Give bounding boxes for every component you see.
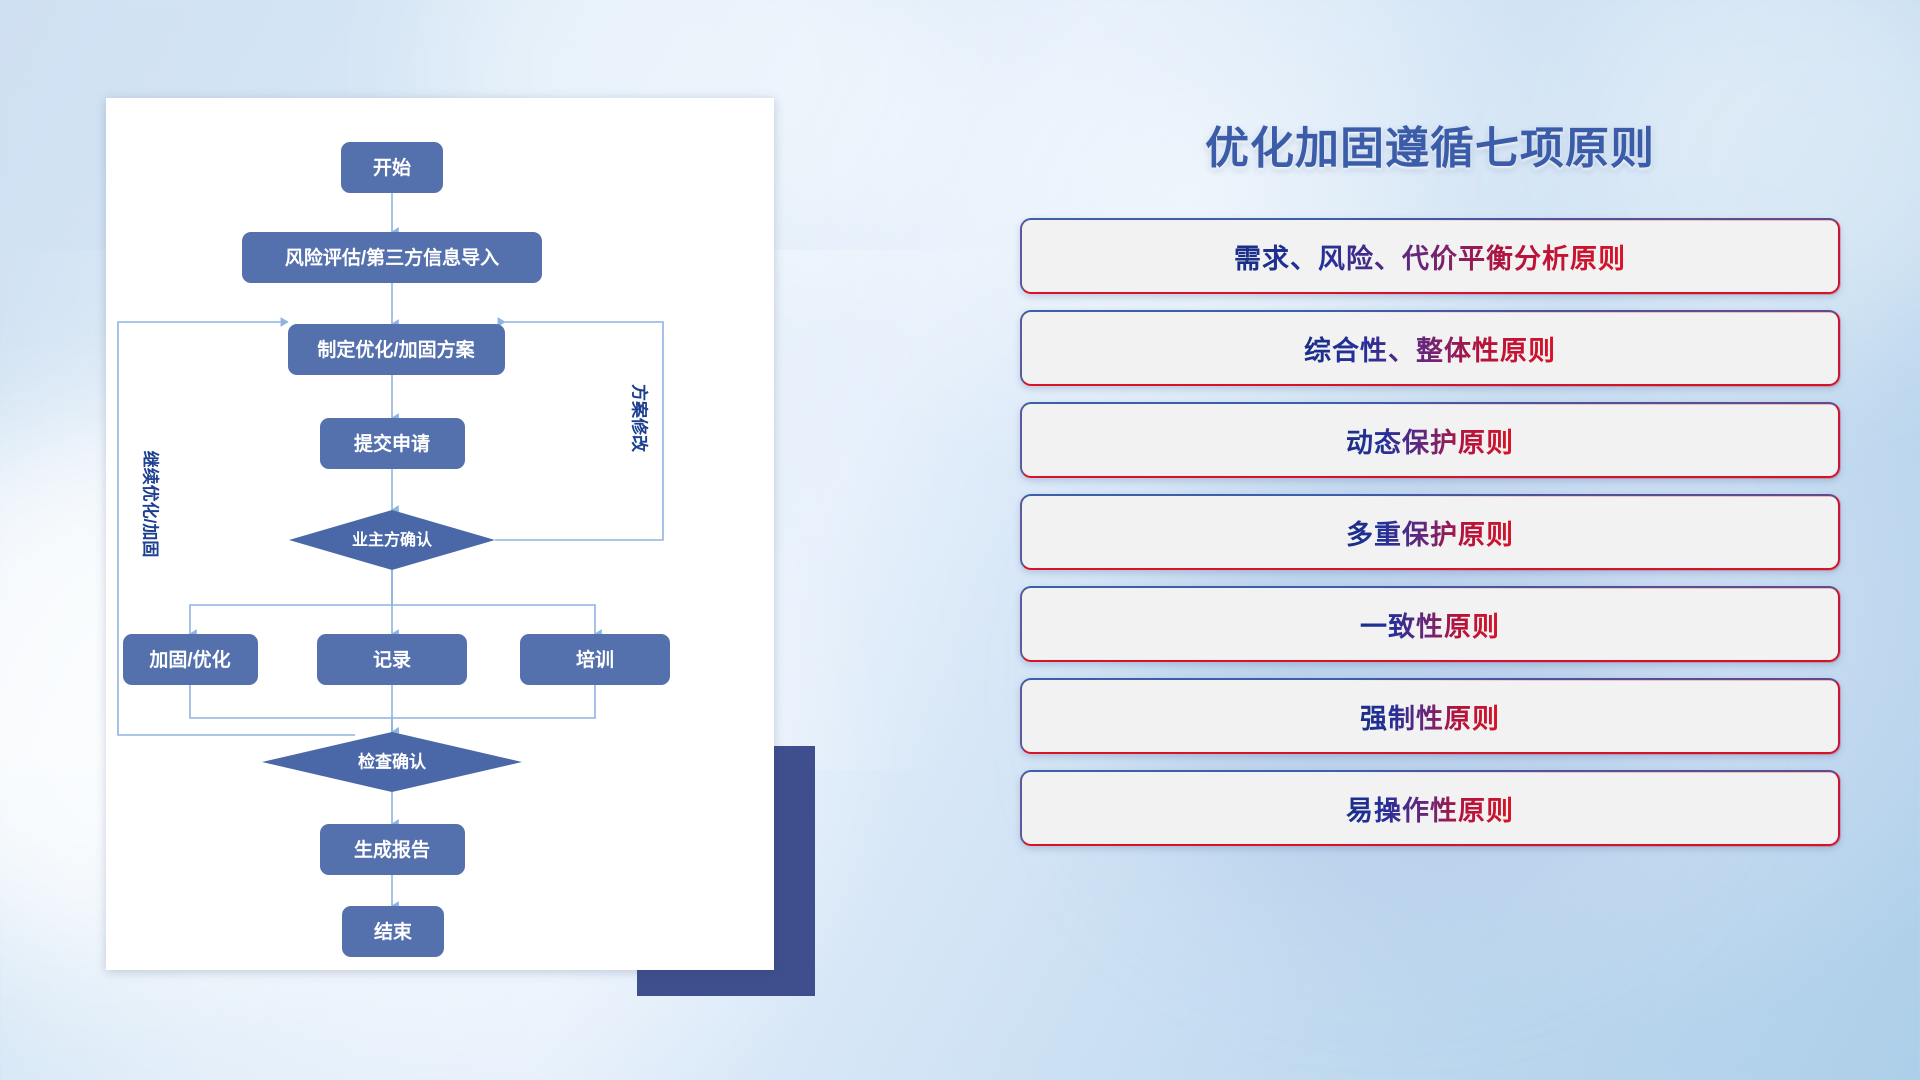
principle-card-4-label: 多重保护原则 bbox=[1346, 513, 1514, 552]
principle-card-1[interactable]: 需求、风险、代价平衡分析原则 bbox=[1020, 218, 1840, 294]
flow-edge-label-continue-optimize: 继续优化/加固 bbox=[141, 451, 161, 558]
flow-node-submit[interactable]: 提交申请 bbox=[320, 418, 465, 469]
principle-card-1-label: 需求、风险、代价平衡分析原则 bbox=[1234, 237, 1626, 276]
principle-card-list: 需求、风险、代价平衡分析原则 综合性、整体性原则 动态保护原则 多重保护原则 一… bbox=[1020, 218, 1840, 862]
flow-node-training-label: 培训 bbox=[576, 648, 614, 671]
flow-node-check-confirm-label: 检查确认 bbox=[358, 751, 427, 771]
flowchart-panel: 开始 风险评估/第三方信息导入 制定优化/加固方案 提交申请 业主方确认 加固/… bbox=[106, 98, 774, 970]
principle-card-7-label: 易操作性原则 bbox=[1346, 789, 1514, 828]
flow-node-risk-assessment[interactable]: 风险评估/第三方信息导入 bbox=[242, 232, 542, 283]
flow-node-owner-confirm[interactable]: 业主方确认 bbox=[289, 510, 495, 570]
flow-node-record[interactable]: 记录 bbox=[317, 634, 467, 685]
flow-node-end[interactable]: 结束 bbox=[342, 906, 444, 957]
principle-card-6[interactable]: 强制性原则 bbox=[1020, 678, 1840, 754]
flow-node-training[interactable]: 培训 bbox=[520, 634, 670, 685]
flow-edge-label-plan-revision: 方案修改 bbox=[630, 384, 650, 453]
flow-node-record-label: 记录 bbox=[373, 649, 411, 671]
flow-node-plan[interactable]: 制定优化/加固方案 bbox=[288, 324, 505, 375]
principle-card-5[interactable]: 一致性原则 bbox=[1020, 586, 1840, 662]
flowchart-diagram: 开始 风险评估/第三方信息导入 制定优化/加固方案 提交申请 业主方确认 加固/… bbox=[106, 98, 774, 970]
principles-pane: 优化加固遵循七项原则 需求、风险、代价平衡分析原则 综合性、整体性原则 动态保护… bbox=[1020, 98, 1840, 998]
flow-node-report[interactable]: 生成报告 bbox=[320, 824, 465, 875]
principle-card-2-label: 综合性、整体性原则 bbox=[1304, 329, 1556, 368]
flow-node-submit-label: 提交申请 bbox=[354, 432, 430, 455]
page-title: 优化加固遵循七项原则 bbox=[1020, 112, 1840, 176]
flow-node-owner-confirm-label: 业主方确认 bbox=[352, 530, 433, 549]
principle-card-6-label: 强制性原则 bbox=[1360, 697, 1500, 736]
principle-card-2[interactable]: 综合性、整体性原则 bbox=[1020, 310, 1840, 386]
flow-node-start[interactable]: 开始 bbox=[341, 142, 443, 193]
flow-node-reinforce[interactable]: 加固/优化 bbox=[123, 634, 258, 685]
principle-card-3[interactable]: 动态保护原则 bbox=[1020, 402, 1840, 478]
flow-node-risk-assessment-label: 风险评估/第三方信息导入 bbox=[285, 246, 499, 269]
principle-card-5-label: 一致性原则 bbox=[1360, 605, 1500, 644]
flow-node-start-label: 开始 bbox=[373, 156, 411, 179]
flow-node-end-label: 结束 bbox=[374, 920, 413, 943]
flow-node-report-label: 生成报告 bbox=[354, 838, 430, 861]
principle-card-4[interactable]: 多重保护原则 bbox=[1020, 494, 1840, 570]
principle-card-7[interactable]: 易操作性原则 bbox=[1020, 770, 1840, 846]
flow-node-reinforce-label: 加固/优化 bbox=[148, 648, 230, 671]
flow-node-plan-label: 制定优化/加固方案 bbox=[317, 338, 475, 361]
principle-card-3-label: 动态保护原则 bbox=[1346, 421, 1514, 460]
flow-node-check-confirm[interactable]: 检查确认 bbox=[262, 732, 522, 792]
